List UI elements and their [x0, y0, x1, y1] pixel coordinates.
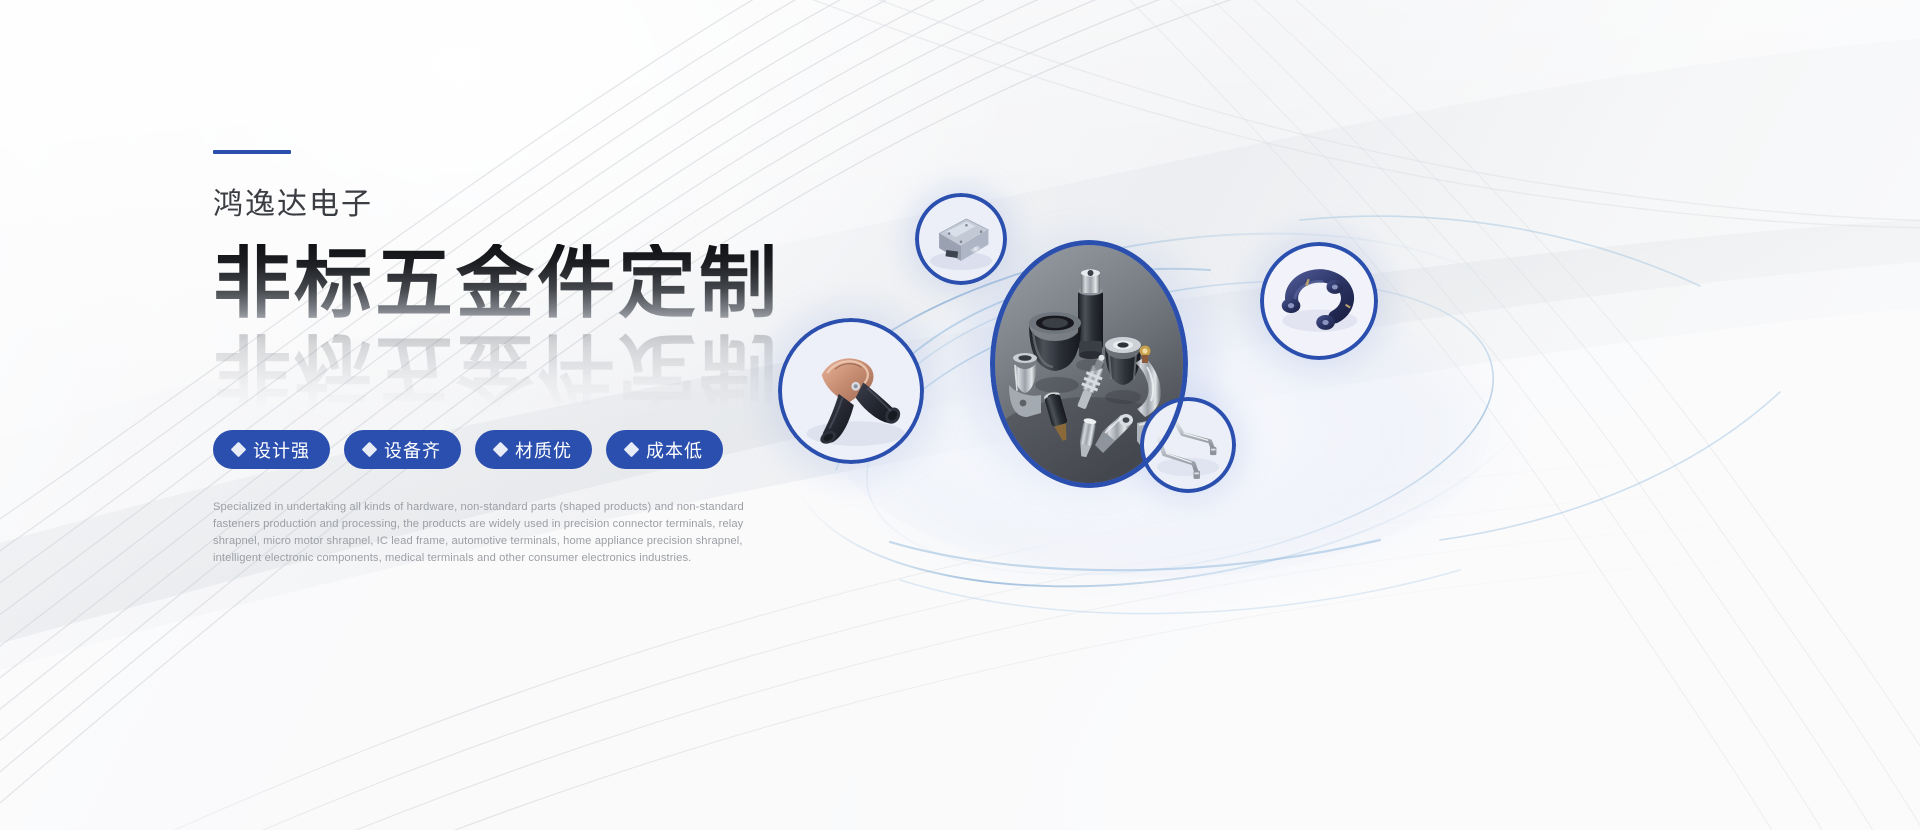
feature-pill-equipment[interactable]: 设备齐: [344, 430, 461, 469]
product-photo-retaining-clip: [1264, 246, 1374, 356]
retaining-clip-art: [1264, 246, 1374, 356]
product-bubble-retaining-clip[interactable]: [1260, 242, 1378, 360]
feature-pill-material[interactable]: 材质优: [475, 430, 592, 469]
terminal-pins-art: [1144, 401, 1232, 489]
diamond-icon: [493, 442, 509, 458]
diamond-icon: [362, 442, 378, 458]
product-cluster: [740, 110, 1900, 730]
accent-rule: [213, 150, 291, 154]
diamond-icon: [231, 442, 247, 458]
diamond-icon: [624, 442, 640, 458]
feature-pill-label: 设计强: [253, 437, 310, 463]
feature-pill-cost[interactable]: 成本低: [606, 430, 723, 469]
hero-banner: 鸿逸达电子 非标五金件定制 非标五金件定制 设计强 设备齐 材质优 成本低: [0, 0, 1920, 830]
headline-reflection: 非标五金件定制: [213, 330, 780, 408]
product-bubble-metal-enclosure[interactable]: [915, 193, 1007, 285]
feature-pill-label: 设备齐: [384, 437, 441, 463]
company-description: Specialized in undertaking all kinds of …: [213, 499, 781, 567]
feature-pill-label: 材质优: [515, 437, 572, 463]
product-bubble-terminal-pins[interactable]: [1140, 397, 1236, 493]
feature-pill-label: 成本低: [646, 437, 703, 463]
product-photo-metal-enclosure: [919, 197, 1003, 281]
metal-enclosure-art: [919, 197, 1003, 281]
product-bubble-battery-clamp[interactable]: [778, 318, 924, 464]
battery-clamp-art: [782, 322, 920, 460]
product-photo-battery-clamp: [782, 322, 920, 460]
product-photo-terminal-pins: [1144, 401, 1232, 489]
feature-pill-design[interactable]: 设计强: [213, 430, 330, 469]
